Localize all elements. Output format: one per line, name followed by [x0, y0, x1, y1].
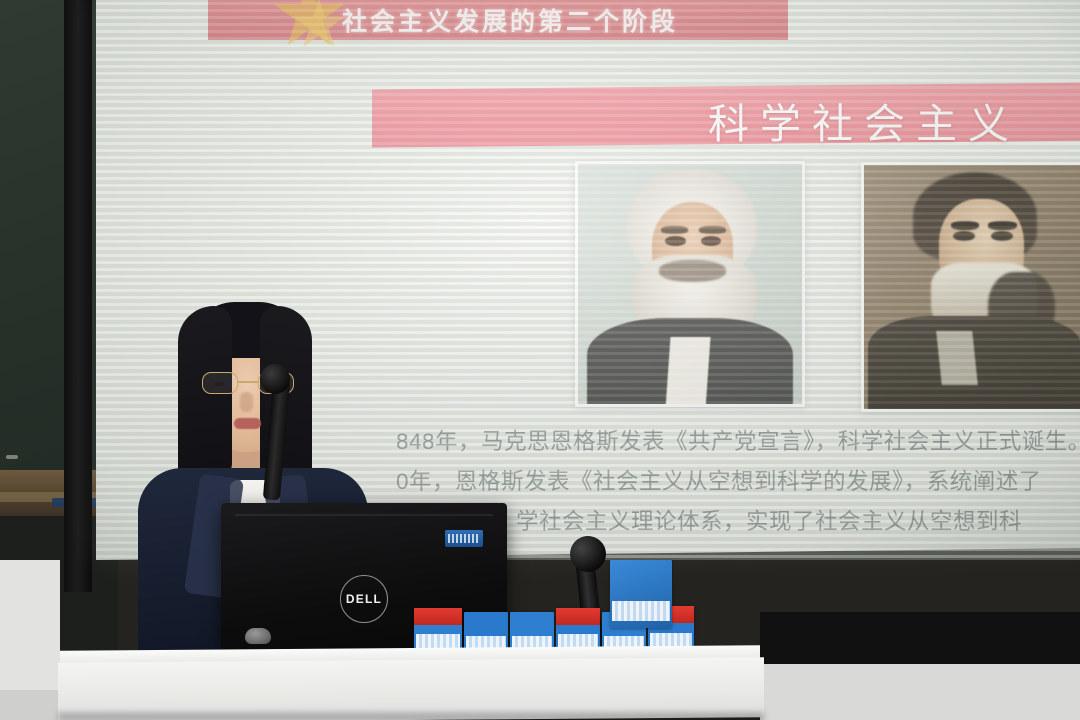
slide-body-line-1: 848年，马克思恩格斯发表《共产党宣言》，科学社会主义正式诞生。: [396, 424, 1080, 456]
energy-label-sticker: [445, 530, 483, 547]
vertical-post: [64, 0, 92, 592]
friedrich-engels-portrait: [861, 162, 1080, 412]
stage-base: [760, 612, 1080, 668]
lecture-presentation-photo: 社会主义发展的第二个阶段 科学社会主义: [0, 0, 1080, 720]
presenter-eye-left: [214, 382, 225, 386]
slide-title-text: 科学社会主义: [708, 90, 1020, 150]
chalk-mark: [6, 455, 18, 459]
podium-front-panel: [58, 657, 764, 720]
dell-logo-text: DELL: [346, 592, 382, 606]
slide-body-line-2: 0年，恩格斯发表《社会主义从空想到科学的发展》，系统阐述了: [396, 464, 1042, 496]
podium-shadow: [58, 712, 764, 720]
presenter-hair-left: [178, 306, 232, 486]
dell-logo-icon: DELL: [340, 575, 388, 623]
floor-right: [760, 664, 1080, 720]
handheld-microphone-head: [260, 364, 290, 394]
slide-body-line-3: 学社会主义理论体系，实现了社会主义从空想到科: [516, 504, 1022, 536]
presenter-mouth: [234, 418, 261, 429]
presenter-nose: [240, 392, 253, 412]
karl-marx-portrait: [575, 161, 805, 407]
slide-header-text: 社会主义发展的第二个阶段: [342, 2, 812, 38]
product-box: [610, 560, 672, 628]
monitor-seam: [235, 514, 493, 516]
floor-left: [0, 690, 60, 720]
computer-mouse: [245, 628, 271, 644]
